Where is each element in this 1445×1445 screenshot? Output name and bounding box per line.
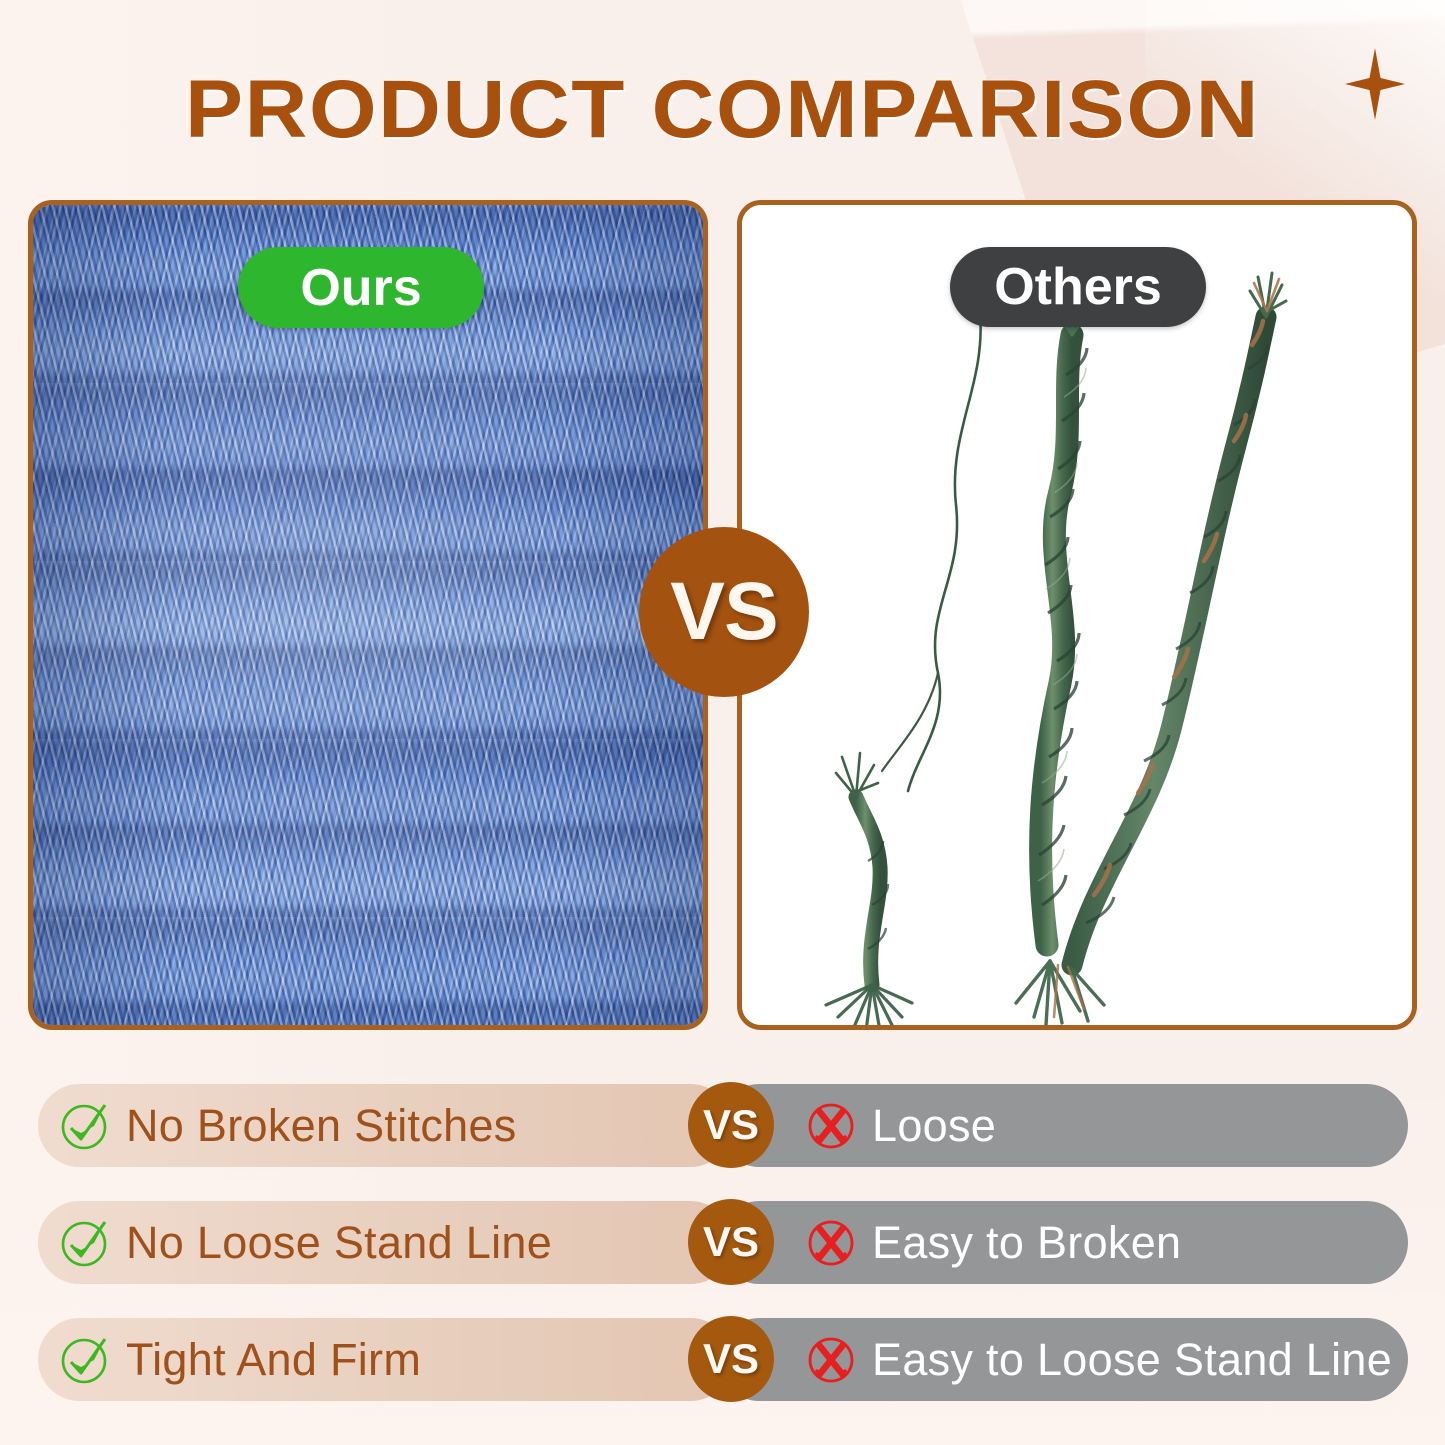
others-feature-label: Easy to Loose Stand Line (872, 1334, 1392, 1386)
blue-thread-shading (33, 205, 703, 1025)
row-vs-label: VS (703, 1101, 759, 1149)
row-vs-label: VS (703, 1335, 759, 1383)
badge-others: Others (950, 247, 1206, 327)
others-feature-bar: Loose (718, 1084, 1408, 1167)
comparison-row: No Loose Stand Line VS Easy to Broken (0, 1201, 1445, 1284)
panel-ours: Ours (28, 200, 708, 1030)
panel-others: Others (737, 200, 1417, 1030)
row-vs-badge: VS (688, 1082, 774, 1168)
ours-feature-label: No Loose Stand Line (126, 1217, 552, 1269)
ours-feature-bar: No Loose Stand Line (38, 1201, 732, 1284)
ours-feature-bar: No Broken Stitches (38, 1084, 732, 1167)
red-x-circle-icon (806, 1335, 856, 1385)
frayed-cord-image (742, 205, 1412, 1025)
badge-others-label: Others (994, 257, 1162, 317)
comparison-row: No Broken Stitches VS Loose (0, 1084, 1445, 1167)
infographic-canvas: PRODUCT COMPARISON Ours (0, 0, 1445, 1445)
red-x-circle-icon (806, 1101, 856, 1151)
row-vs-label: VS (703, 1218, 759, 1266)
others-feature-label: Easy to Broken (872, 1217, 1181, 1269)
comparison-rows: No Broken Stitches VS Loose (0, 1084, 1445, 1435)
others-feature-label: Loose (872, 1100, 996, 1152)
badge-ours-label: Ours (300, 258, 421, 318)
red-x-circle-icon (806, 1218, 856, 1268)
comparison-row: Tight And Firm VS Easy to Loose Stand Li… (0, 1318, 1445, 1401)
center-vs-badge: VS (639, 527, 809, 697)
badge-ours: Ours (238, 247, 484, 328)
others-feature-bar: Easy to Broken (718, 1201, 1408, 1284)
ours-feature-label: Tight And Firm (126, 1334, 421, 1386)
ours-feature-bar: Tight And Firm (38, 1318, 732, 1401)
green-check-circle-icon (60, 1334, 112, 1386)
row-vs-badge: VS (688, 1199, 774, 1285)
green-check-circle-icon (60, 1100, 112, 1152)
row-vs-badge: VS (688, 1316, 774, 1402)
green-check-circle-icon (60, 1217, 112, 1269)
frayed-cord-illustration (742, 205, 1412, 1025)
ours-feature-label: No Broken Stitches (126, 1100, 517, 1152)
center-vs-label: VS (670, 565, 777, 659)
others-feature-bar: Easy to Loose Stand Line (718, 1318, 1408, 1401)
page-title: PRODUCT COMPARISON (0, 63, 1445, 157)
